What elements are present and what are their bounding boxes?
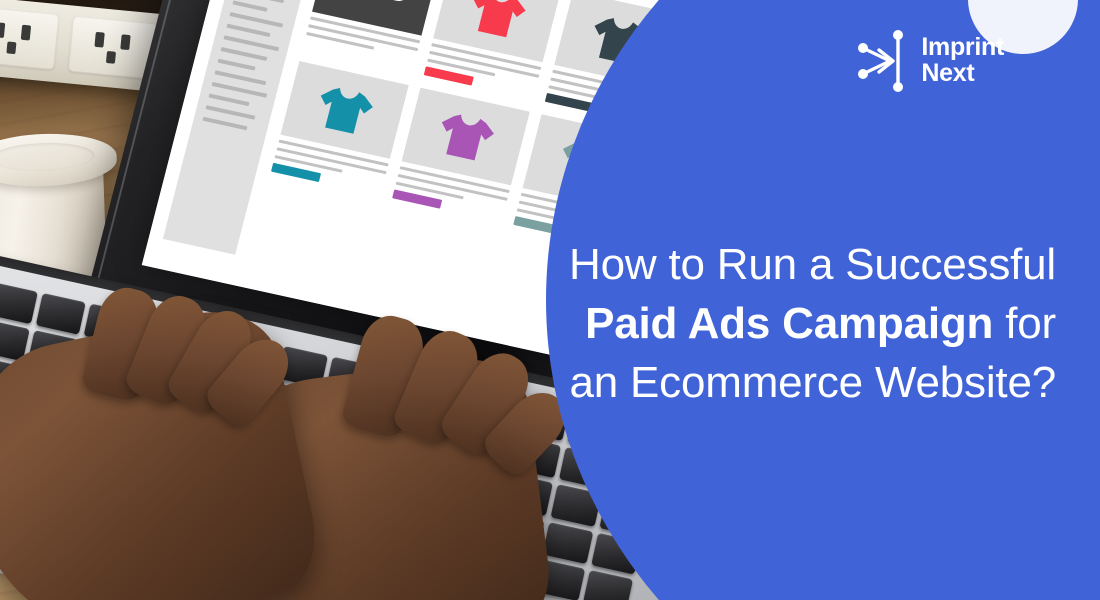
- sidebar-placeholder-line: [232, 0, 267, 11]
- tshirt-icon: [463, 0, 532, 43]
- headline-emphasis: Paid Ads Campaign: [585, 299, 993, 348]
- sidebar-placeholder-line: [226, 24, 270, 37]
- product-text-line: [306, 32, 375, 50]
- keyboard-key[interactable]: [35, 293, 86, 335]
- product-card[interactable]: [392, 88, 530, 223]
- left-hand: [0, 299, 327, 600]
- headline: How to Run a Successful Paid Ads Campaig…: [536, 236, 1056, 413]
- brand-name: Imprint Next: [921, 35, 1004, 87]
- blog-banner: New Arrivals | Shop ADS: [0, 0, 1100, 600]
- tshirt-icon: [431, 107, 500, 167]
- imprint-next-arrow-icon: [857, 30, 909, 92]
- sidebar-placeholder-line: [220, 47, 267, 61]
- sidebar-placeholder-line: [206, 105, 256, 120]
- keyboard-key[interactable]: [0, 282, 37, 324]
- product-card[interactable]: [424, 0, 562, 99]
- sidebar-placeholder-line: [217, 59, 255, 71]
- sidebar-placeholder-line: [209, 93, 250, 106]
- sidebar-placeholder-line: [203, 117, 248, 130]
- keyboard-key[interactable]: [583, 570, 634, 600]
- product-card[interactable]: ADS: [303, 0, 441, 72]
- product-card[interactable]: [271, 61, 409, 196]
- sidebar-placeholder-line: [214, 70, 265, 85]
- tshirt-icon: [310, 80, 379, 140]
- keyboard-key[interactable]: [542, 522, 593, 564]
- brand-logo[interactable]: Imprint Next: [857, 30, 1004, 92]
- product-thumbnail: [433, 0, 561, 62]
